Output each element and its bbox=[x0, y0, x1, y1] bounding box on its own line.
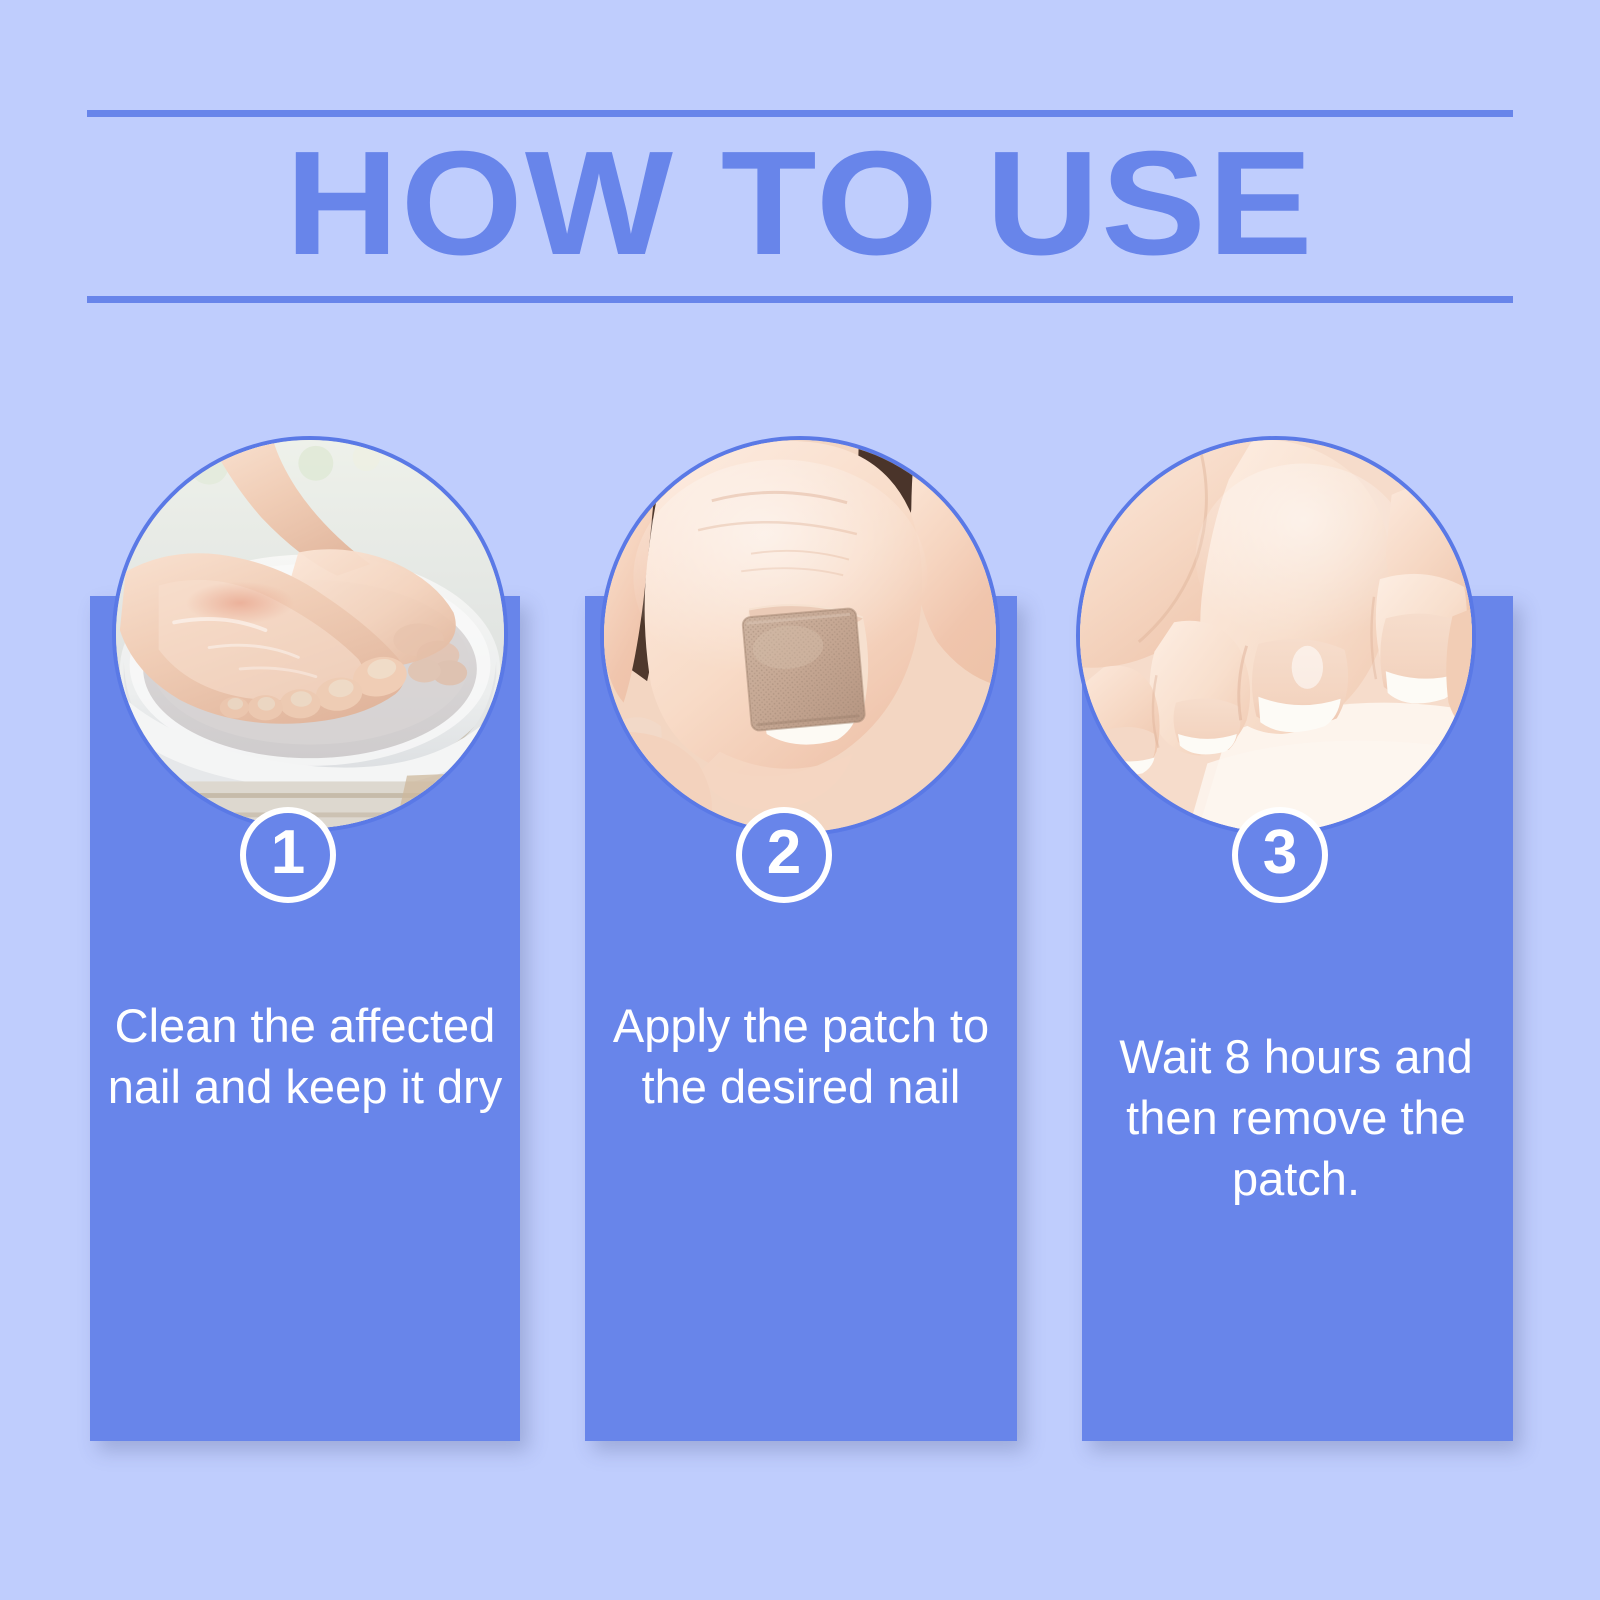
step-caption-1: Clean the affected nail and keep it dry bbox=[100, 995, 510, 1117]
step-image-3 bbox=[1076, 436, 1476, 836]
step-caption-3: Wait 8 hours and then remove the patch. bbox=[1086, 1026, 1506, 1209]
step-number-badge-2: 2 bbox=[736, 807, 832, 903]
steps-container: 1 Clean the affected nail and keep it dr… bbox=[0, 0, 1600, 1600]
step-number-badge-3: 3 bbox=[1232, 807, 1328, 903]
step-image-2 bbox=[600, 436, 1000, 836]
step-caption-2: Apply the patch to the desired nail bbox=[592, 995, 1010, 1117]
step-image-1 bbox=[112, 436, 508, 832]
step-number-badge-1: 1 bbox=[240, 807, 336, 903]
